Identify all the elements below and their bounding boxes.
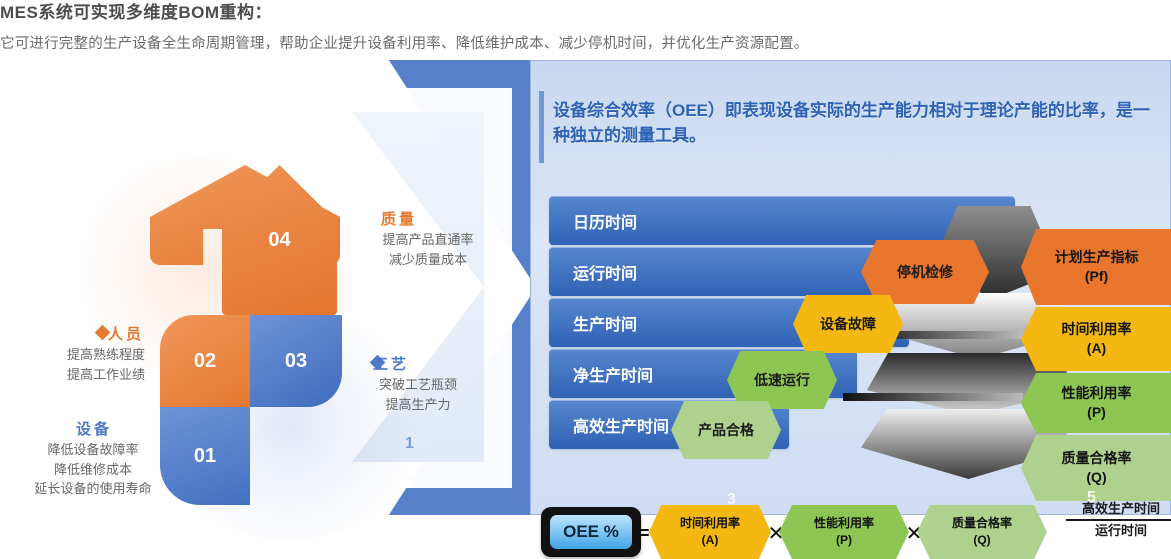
loss-hex-product-quality[interactable]: 产品合格	[671, 401, 781, 459]
pinwheel-segment-03[interactable]: 03	[250, 315, 342, 407]
metric-code: (P)	[1087, 403, 1106, 422]
accent-bar	[539, 91, 544, 163]
metric-code: (Q)	[1086, 468, 1106, 487]
metric-card-quality[interactable]: 质量合格率 (Q)	[1021, 435, 1171, 501]
fraction-denominator: 运行时间	[1056, 523, 1171, 539]
factor-name: 质量合格率	[952, 515, 1012, 532]
factor-code: (A)	[702, 532, 719, 549]
loss-hex-low-speed[interactable]: 低速运行	[727, 351, 837, 409]
oee-result-label: OEE %	[550, 515, 632, 549]
metric-name: 计划生产指标	[1055, 248, 1139, 267]
time-bar-calendar[interactable]: 日历时间	[549, 196, 1015, 245]
metric-name: 性能利用率	[1062, 384, 1132, 403]
callout-label-equipment: 设备	[76, 418, 112, 439]
factor-name: 时间利用率	[680, 515, 740, 532]
metric-card-planned-output[interactable]: 计划生产指标 (Pf)	[1021, 229, 1171, 305]
metric-code: (A)	[1087, 339, 1106, 358]
formula-factor-availability[interactable]: 时间利用率 (A)	[649, 505, 771, 559]
metric-name: 质量合格率	[1062, 449, 1132, 468]
loss-hex-equipment-failure[interactable]: 设备故障	[793, 295, 903, 353]
pinwheel-diagram: 04 02 03 01 人员 提高熟练程度 提高工作业绩 设备 降低设备故障率 …	[0, 60, 530, 515]
metric-card-performance[interactable]: 性能利用率 (P)	[1021, 373, 1171, 433]
watermark-number-5: 5	[1087, 489, 1096, 507]
fraction-bar	[1066, 519, 1171, 521]
oee-panel: 设备综合效率（OEE）即表现设备实际的生产能力相对于理论产能的比率，是一种独立的…	[530, 60, 1171, 515]
arrow-connector-2	[843, 393, 1023, 401]
page-title: MES系统可实现多维度BOM重构：	[0, 0, 272, 23]
loss-hex-downtime-maintenance[interactable]: 停机检修	[861, 240, 989, 304]
factor-code: (P)	[836, 532, 852, 549]
oee-description: 设备综合效率（OEE）即表现设备实际的生产能力相对于理论产能的比率，是一种独立的…	[553, 99, 1153, 148]
callout-label-people: 人员	[108, 323, 144, 344]
formula-factor-performance[interactable]: 性能利用率 (P)	[779, 505, 909, 559]
background-chevron-blue	[306, 60, 536, 515]
ratio-fraction: 高效生产时间 运行时间	[1056, 501, 1171, 540]
callout-text-people: 提高熟练程度 提高工作业绩	[26, 345, 186, 384]
metric-code: (Pf)	[1085, 267, 1108, 286]
callout-text-quality: 提高产品直通率 减少质量成本	[358, 230, 498, 269]
callout-text-equipment: 降低设备故障率 降低维修成本 延长设备的使用寿命	[2, 440, 184, 499]
callout-label-quality: 质量	[381, 208, 417, 229]
watermark-number-3: 3	[727, 491, 736, 509]
metric-name: 时间利用率	[1062, 320, 1132, 339]
page-subtitle: 它可进行完整的生产设备全生命周期管理，帮助企业提升设备利用率、降低维护成本、减少…	[0, 32, 809, 53]
factor-name: 性能利用率	[814, 515, 874, 532]
watermark-number-1: 1	[405, 435, 414, 453]
callout-text-craft: 突破工艺瓶颈 提高生产力	[348, 375, 488, 414]
metric-card-availability[interactable]: 时间利用率 (A)	[1021, 307, 1171, 371]
equals-sign: =	[639, 523, 650, 544]
factor-code: (Q)	[973, 532, 990, 549]
formula-factor-quality[interactable]: 质量合格率 (Q)	[917, 505, 1047, 559]
